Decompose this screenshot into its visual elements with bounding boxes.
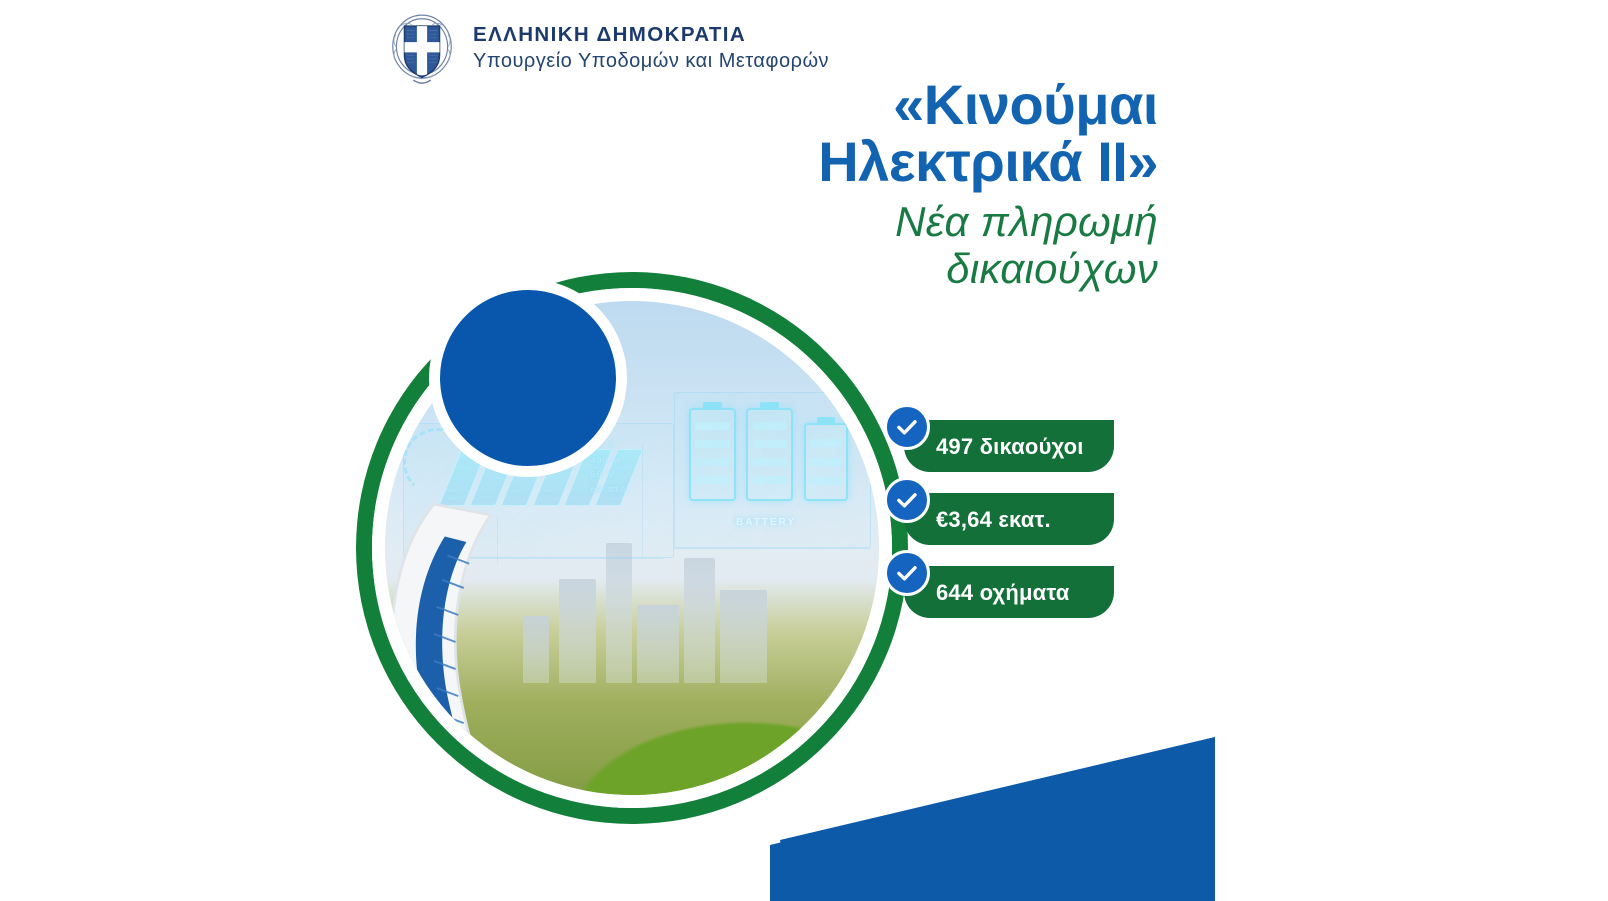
subheadline-line-1: Νέα πληρωμή — [518, 198, 1158, 245]
stat-label: €3,64 εκατ. — [936, 503, 1126, 537]
subheadline-line-2: δικαιούχων — [518, 245, 1158, 292]
headline: «Κινούμαι Ηλεκτρικά ΙΙ» — [518, 76, 1158, 190]
blue-circle-badge — [429, 279, 627, 477]
ev-charging-connector — [372, 496, 684, 808]
greek-coat-of-arms-icon — [385, 10, 459, 86]
stat-label: 644 οχήματα — [936, 576, 1126, 610]
subheadline: Νέα πληρωμή δικαιούχων — [518, 198, 1158, 292]
check-circle-icon — [884, 550, 930, 596]
headline-line-2: Ηλεκτρικά ΙΙ» — [518, 133, 1158, 190]
ministry-name: Υπουργείο Υποδομών και Μεταφορών — [473, 50, 829, 73]
hud-battery-label: BATTERY — [736, 517, 796, 528]
check-circle-icon — [884, 477, 930, 523]
check-circle-icon — [884, 404, 930, 450]
ministry-lockup: ΕΛΛΗΝΙΚΗ ΔΗΜΟΚΡΑΤΙΑ Υπουργείο Υποδομών κ… — [385, 10, 829, 86]
poster-canvas: ΕΛΛΗΝΙΚΗ ΔΗΜΟΚΡΑΤΙΑ Υπουργείο Υποδομών κ… — [0, 0, 1608, 901]
org-name: ΕΛΛΗΝΙΚΗ ΔΗΜΟΚΡΑΤΙΑ — [473, 23, 829, 47]
stat-label: 497 δικαούχοι — [936, 430, 1126, 464]
headline-line-1: «Κινούμαι — [518, 76, 1158, 133]
